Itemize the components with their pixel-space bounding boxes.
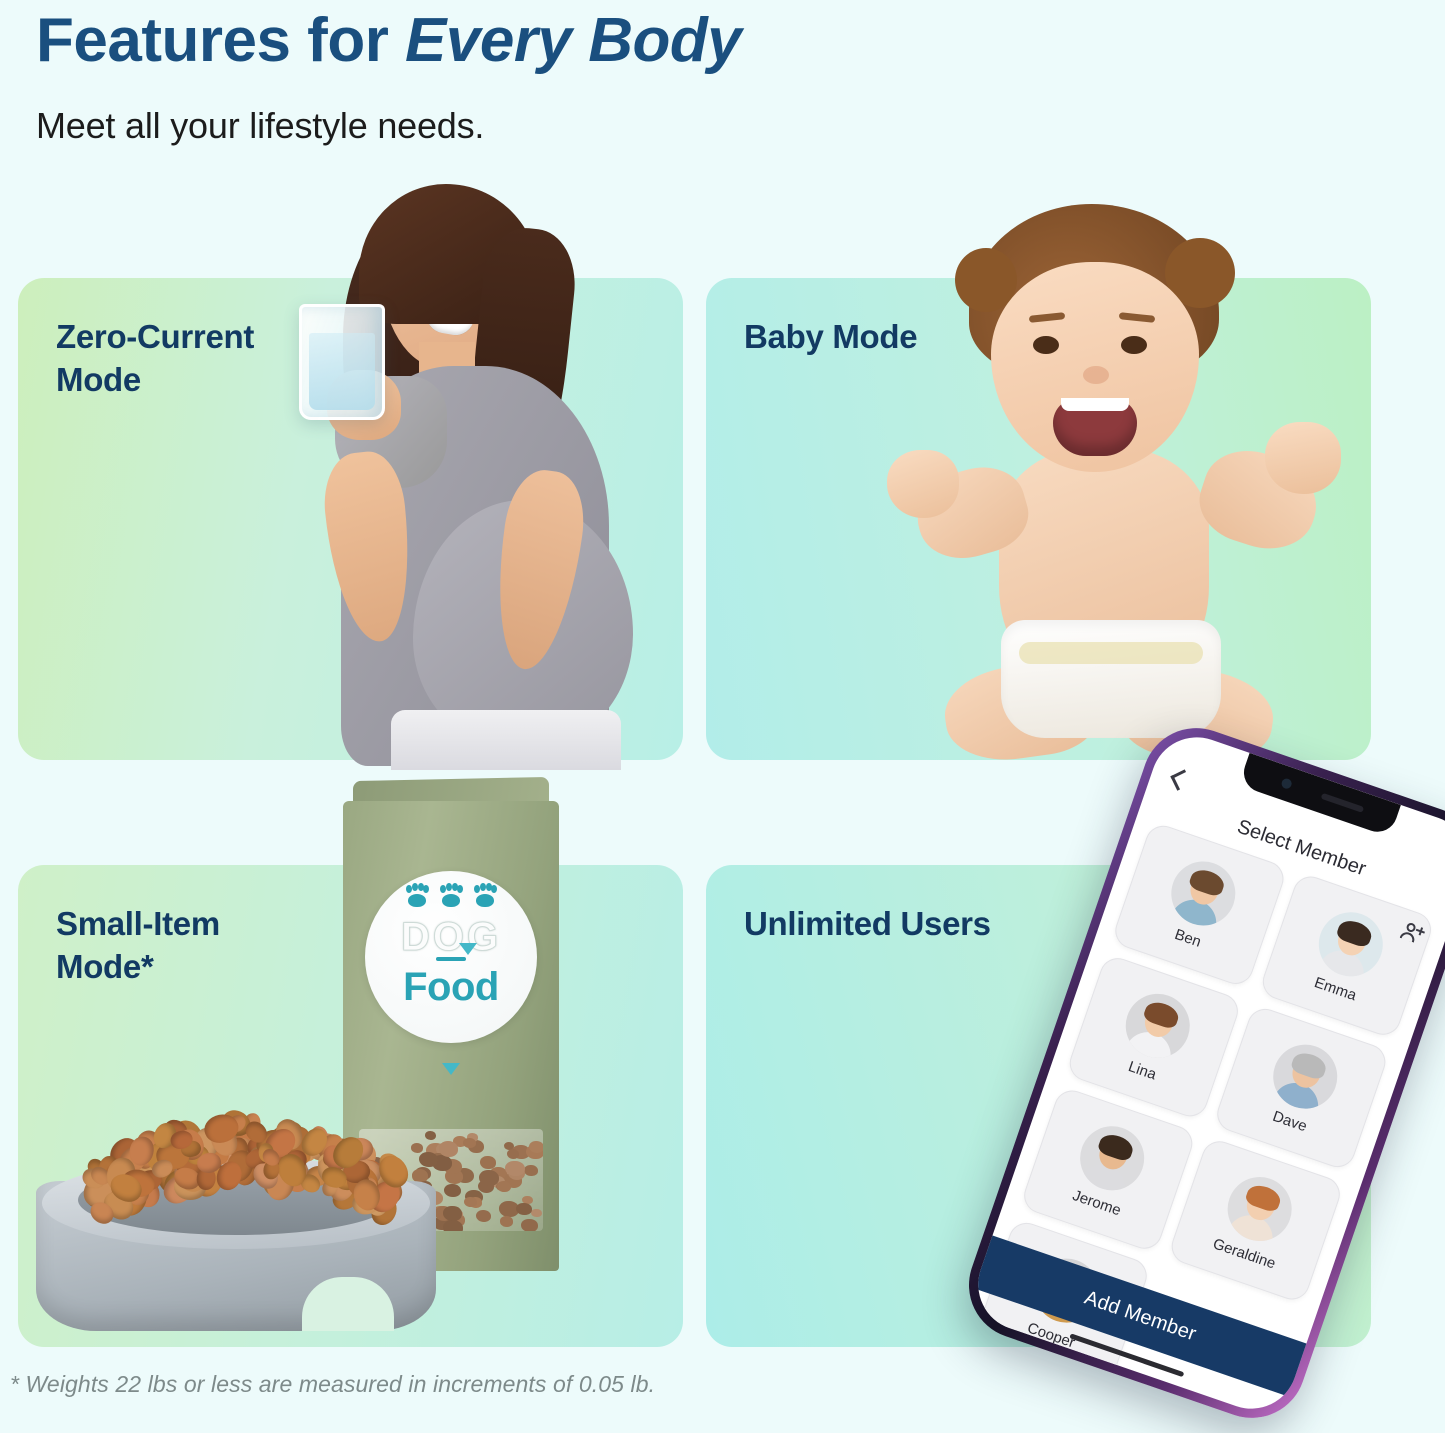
page-header: Features for Every Body Meet all your li… [0, 0, 1445, 147]
baby-photo [873, 200, 1343, 760]
card-title: Small-Item Mode* [56, 903, 220, 989]
chevron-left-icon[interactable] [1170, 769, 1191, 790]
avatar [1071, 1118, 1152, 1199]
triangle-icon [459, 943, 477, 955]
earpiece-speaker [1321, 793, 1365, 813]
member-name: Dave [1270, 1108, 1309, 1135]
feature-card-small-item-mode[interactable]: Small-Item Mode* DOG Food [18, 865, 683, 1347]
avatar [1219, 1168, 1300, 1249]
page-title: Features for Every Body [36, 6, 1445, 75]
card-title: Unlimited Users [744, 903, 991, 946]
paw-print-icons [365, 885, 537, 907]
bag-label: DOG Food [365, 871, 537, 1043]
page-subtitle: Meet all your lifestyle needs. [36, 105, 1445, 147]
paw-icon [406, 885, 428, 907]
card-title: Zero-Current Mode [56, 316, 254, 402]
phone-screen: Select Member BenEmmaLinaDaveJeromeGeral… [966, 725, 1445, 1421]
paw-icon [474, 885, 496, 907]
page-title-prefix: Features for [36, 6, 405, 75]
avatar [1265, 1036, 1346, 1117]
paw-icon [440, 885, 462, 907]
bag-brand-dog: DOG [365, 915, 537, 960]
kibble-pile [80, 1101, 400, 1221]
feature-card-baby-mode[interactable]: Baby Mode [706, 278, 1371, 760]
triangle-icon [442, 1063, 460, 1075]
feature-card-unlimited-users[interactable]: Unlimited Users Select Member BenEmmaLin… [706, 865, 1371, 1347]
footnote: * Weights 22 lbs or less are measured in… [10, 1371, 655, 1398]
bag-divider [436, 957, 466, 961]
member-name: Lina [1126, 1058, 1158, 1083]
bag-brand-food: Food [365, 965, 537, 1010]
feature-card-grid: Zero-Current Mode Baby Mode [18, 278, 1427, 1347]
feature-card-zero-current-mode[interactable]: Zero-Current Mode [18, 278, 683, 760]
card-title: Baby Mode [744, 316, 917, 359]
avatar [1310, 904, 1391, 985]
front-camera-icon [1280, 777, 1293, 790]
water-glass [299, 304, 385, 420]
pregnant-woman-photo [263, 170, 683, 760]
avatar [1163, 853, 1244, 934]
dog-bowl [36, 1101, 436, 1331]
page-title-emphasis: Every Body [405, 6, 741, 75]
member-name: Ben [1172, 926, 1203, 951]
avatar [1117, 985, 1198, 1066]
